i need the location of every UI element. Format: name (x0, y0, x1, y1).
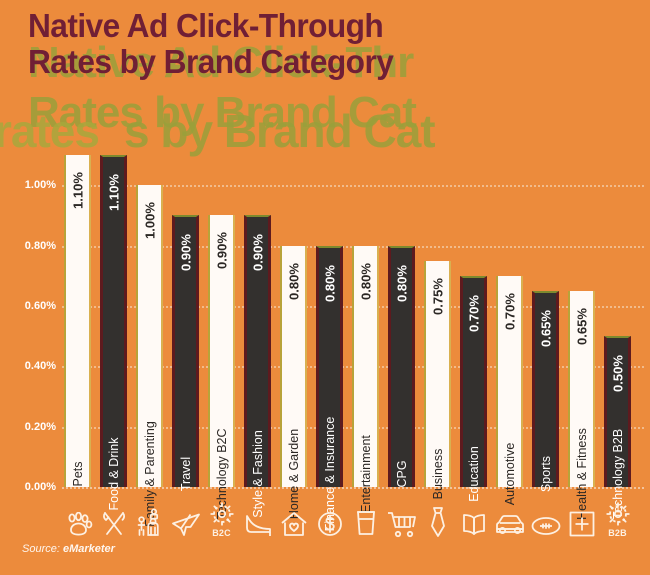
bar-category-label: Sports (539, 456, 553, 492)
bar[interactable]: 1.00%Family & Parenting (136, 185, 163, 487)
y-axis-tick-label: 0.00% (25, 481, 56, 493)
bar[interactable]: 1.10%Pets (64, 155, 91, 487)
bar[interactable]: 0.80%Entertainment (352, 246, 379, 487)
house-heart-icon (277, 510, 311, 538)
bar-value-label: 0.75% (430, 278, 445, 315)
source-note: Source: eMarketer (22, 543, 115, 555)
bar-value-label: 0.80% (322, 265, 337, 302)
shopping-cart-icon (385, 510, 419, 538)
medical-cross-icon (565, 510, 599, 538)
y-axis-tick-label: 0.40% (25, 360, 56, 372)
bar-value-label: 0.90% (214, 232, 229, 269)
source-name: eMarketer (63, 543, 115, 555)
bar-slot: 1.10%Food & Drink (100, 155, 127, 487)
bar-value-label: 0.80% (286, 263, 301, 300)
category-icon-row: B2CB2B (62, 492, 640, 538)
necktie-icon (421, 506, 455, 538)
bar[interactable]: 0.75%Business (424, 261, 451, 487)
icon-tag-label: B2C (212, 528, 231, 538)
paw-print-icon (61, 512, 95, 538)
bar-value-label: 0.90% (178, 234, 193, 271)
chart-title: Native Ad Click-Through Rates by Brand C… (28, 8, 393, 80)
ghost-title-line-2: Rates by Brand Cat (28, 88, 416, 138)
bar-slot: 1.10%Pets (64, 155, 91, 487)
bar-value-label: 0.80% (394, 265, 409, 302)
bar[interactable]: 0.65%Health & Fitness (568, 291, 595, 487)
bar[interactable]: 0.80%CPG (388, 246, 415, 487)
ghost-title-line-4: s by Brand Cat (124, 104, 435, 158)
bar-value-label: 1.10% (106, 174, 121, 211)
high-heel-shoe-icon (241, 510, 275, 538)
gear-icon: B2C (205, 501, 239, 538)
bar[interactable]: 0.70%Education (460, 276, 487, 487)
bar-value-label: 0.70% (466, 295, 481, 332)
bar[interactable]: 0.90%Technology B2C (208, 215, 235, 487)
source-prefix: Source: (22, 543, 63, 555)
bar[interactable]: 0.70%Automotive (496, 276, 523, 487)
bar-slot: 0.80%CPG (388, 155, 415, 487)
bar-category-label: Pets (71, 461, 85, 486)
bar-slot: 0.70%Education (460, 155, 487, 487)
bar[interactable]: 0.90%Style & Fashion (244, 215, 271, 487)
airplane-icon (169, 510, 203, 538)
bar[interactable]: 0.90%Travel (172, 215, 199, 487)
bar[interactable]: 0.80%Home & Garden (280, 246, 307, 487)
bar[interactable]: 0.50%Technology B2B (604, 336, 631, 487)
bar-category-label: CPG (395, 460, 409, 487)
fork-and-knife-icon (97, 510, 131, 538)
bar[interactable]: 0.65%Sports (532, 291, 559, 487)
bar-slot: 1.00%Family & Parenting (136, 155, 163, 487)
bar-value-label: 0.80% (358, 263, 373, 300)
bar-slot: 0.80%Finance & Insurance (316, 155, 343, 487)
open-book-icon (457, 512, 491, 538)
bar-value-label: 0.90% (250, 234, 265, 271)
football-icon (529, 514, 563, 538)
bar-slot: 0.80%Entertainment (352, 155, 379, 487)
coffee-cup-icon (349, 508, 383, 538)
bar-value-label: 0.65% (538, 310, 553, 347)
bar-slot: 0.90%Style & Fashion (244, 155, 271, 487)
bar-slot: 0.70%Automotive (496, 155, 523, 487)
bar-value-label: 0.50% (610, 355, 625, 392)
bar-slot: 0.50%Technology B2B (604, 155, 631, 487)
bar[interactable]: 0.80%Finance & Insurance (316, 246, 343, 487)
dollar-circle-icon (313, 510, 347, 538)
bar-category-label: Travel (179, 457, 193, 491)
car-icon (493, 512, 527, 538)
bar-value-label: 0.70% (502, 293, 517, 330)
bar-slot: 0.90%Travel (172, 155, 199, 487)
bar-value-label: 1.00% (142, 202, 157, 239)
y-axis-tick-label: 0.80% (25, 240, 56, 252)
y-axis-tick-label: 0.20% (25, 421, 56, 433)
bar-value-label: 0.65% (574, 308, 589, 345)
bar-slot: 0.75%Business (424, 155, 451, 487)
y-axis-tick-label: 0.60% (25, 300, 56, 312)
plot-area: 1.10%Pets1.10%Food & Drink1.00%Family & … (62, 155, 640, 487)
ghost-title-line-3: rates (0, 104, 99, 158)
family-people-icon (133, 508, 167, 538)
bar[interactable]: 1.10%Food & Drink (100, 155, 127, 487)
gear-icon: B2B (601, 501, 635, 538)
bar-slot: 0.65%Sports (532, 155, 559, 487)
bar-slot: 0.65%Health & Fitness (568, 155, 595, 487)
bar-slot: 0.80%Home & Garden (280, 155, 307, 487)
y-axis-tick-label: 1.00% (25, 179, 56, 191)
bar-slot: 0.90%Technology B2C (208, 155, 235, 487)
icon-tag-label: B2B (608, 528, 627, 538)
bar-value-label: 1.10% (70, 172, 85, 209)
bar-series: 1.10%Pets1.10%Food & Drink1.00%Family & … (62, 155, 640, 487)
y-axis: 0.00%0.20%0.40%0.60%0.80%1.00% (0, 155, 56, 487)
